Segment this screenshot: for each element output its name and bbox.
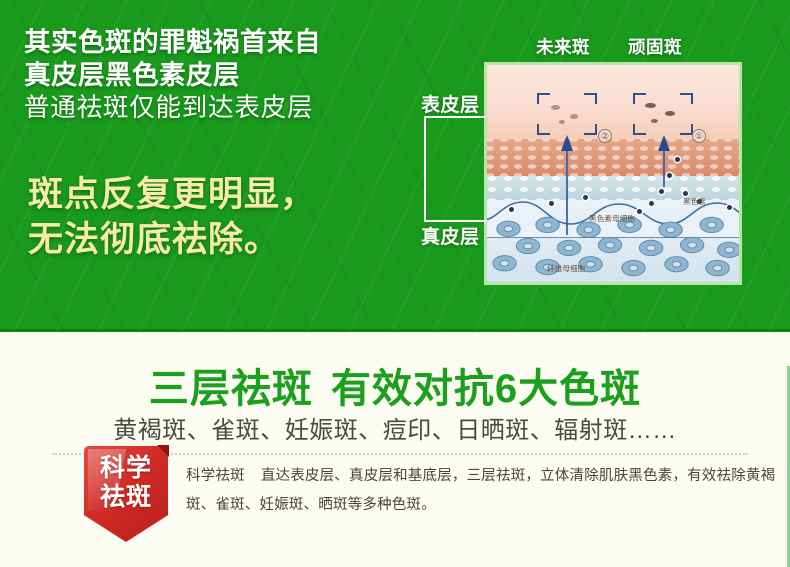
melanin-granule xyxy=(659,189,664,194)
badge-text: 科学 祛斑 xyxy=(84,454,168,511)
body-copy: 科学祛斑直达表皮层、真皮层和基底层，三层祛斑，立体清除肌肤黑色素，有效祛除黄褐斑… xyxy=(186,462,776,520)
melanin-granule xyxy=(675,157,680,162)
badge-line-2: 祛斑 xyxy=(84,483,168,512)
caption-future-spot: 未来斑 xyxy=(536,34,590,59)
badge-line-1: 科学 xyxy=(84,454,168,483)
body-lead: 科学祛斑 xyxy=(186,468,245,484)
melanin-granule xyxy=(649,201,654,206)
subheadline-block: 斑点反复更明显， 无法彻底祛除。 xyxy=(28,173,316,263)
section-title-left: 三层祛斑 xyxy=(149,367,313,411)
melanin-granule xyxy=(727,205,732,210)
diagram-label-melanocyte: 黑色素母细胞 xyxy=(589,213,635,224)
melanin-granule xyxy=(583,195,588,200)
skin-cross-section-diagram: ② ① xyxy=(484,62,742,285)
melanin-granule xyxy=(549,201,554,206)
subheadline-line-1: 斑点反复更明显， xyxy=(28,173,316,218)
headline-line-3: 普通祛斑仅能到达表皮层 xyxy=(24,94,444,124)
migration-arrows xyxy=(487,65,739,282)
section-title: 三层祛斑有效对抗6大色斑 xyxy=(0,356,790,414)
body-text: 直达表皮层、真皮层和基底层，三层祛斑，立体清除肌肤黑色素，有效祛除黄褐斑、雀斑、… xyxy=(186,468,775,513)
headline-block: 其实色斑的罪魁祸首来自 真皮层黑色素皮层 普通祛斑仅能到达表皮层 xyxy=(24,27,444,124)
headline-line-1: 其实色斑的罪魁祸首来自 xyxy=(24,27,444,58)
subheadline-line-2: 无法彻底祛除。 xyxy=(28,218,316,263)
diagram-label-melanin: 黑色素 xyxy=(683,196,706,207)
green-hero-panel: 其实色斑的罪魁祸首来自 真皮层黑色素皮层 普通祛斑仅能到达表皮层 斑点反复更明显… xyxy=(0,0,790,332)
marker-two: ② xyxy=(598,129,612,143)
science-badge: 科学 祛斑 xyxy=(84,446,168,542)
promo-banner: 其实色斑的罪魁祸首来自 真皮层黑色素皮层 普通祛斑仅能到达表皮层 斑点反复更明显… xyxy=(0,0,790,567)
headline-line-2: 真皮层黑色素皮层 xyxy=(24,60,444,91)
diagram-label-fibroblast: 纤维母细胞 xyxy=(547,263,586,274)
layer-bracket xyxy=(424,116,486,222)
melanin-granule xyxy=(667,173,672,178)
marker-one: ① xyxy=(692,129,706,143)
caption-stubborn-spot: 顽固斑 xyxy=(628,34,682,59)
melanin-granule xyxy=(637,209,642,214)
spot-type-list: 黄褐斑、雀斑、妊娠斑、痘印、日晒斑、辐射斑…… xyxy=(0,410,790,445)
section-title-right: 有效对抗6大色斑 xyxy=(331,367,641,411)
melanin-granule xyxy=(509,207,514,212)
label-epidermis: 表皮层 xyxy=(421,90,480,117)
label-dermis: 真皮层 xyxy=(421,222,480,249)
